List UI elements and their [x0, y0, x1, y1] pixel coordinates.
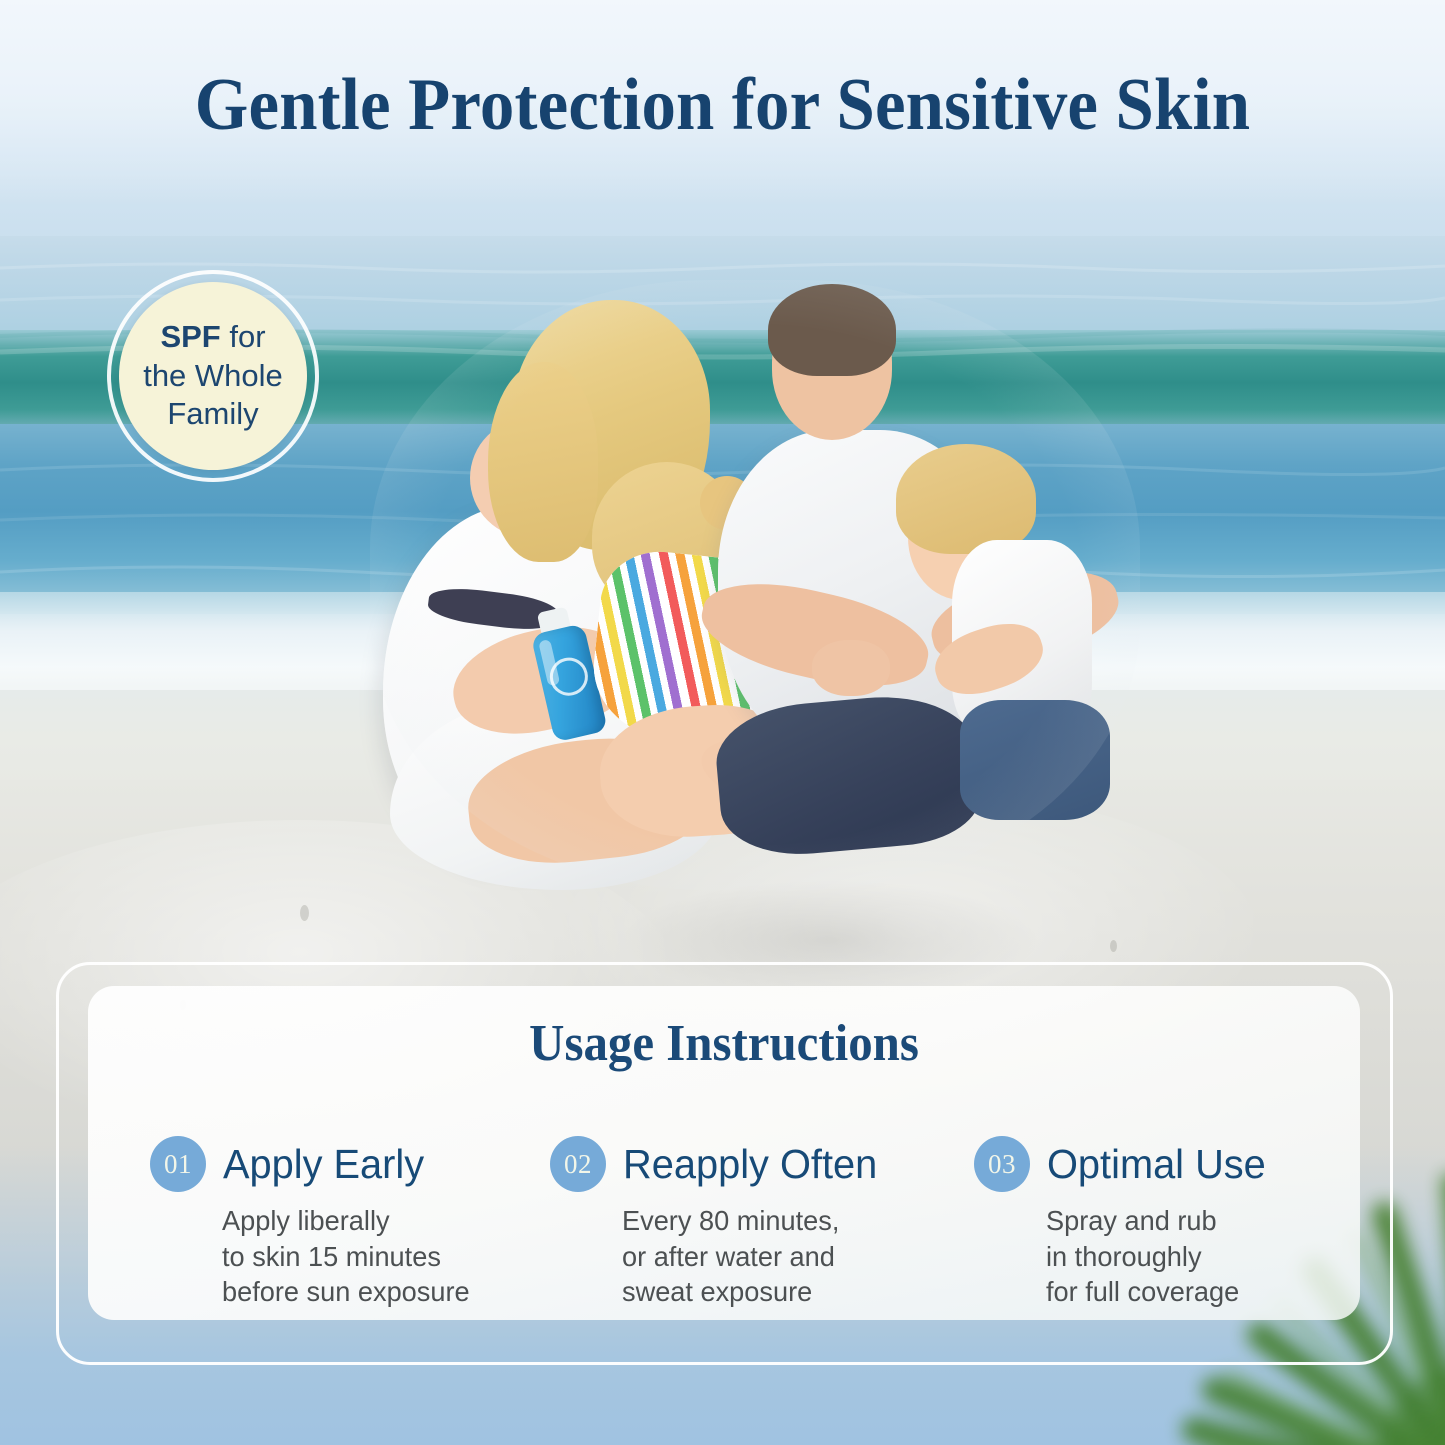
step-title-2: Reapply Often — [623, 1141, 877, 1188]
product-infographic: Gentle Protection for Sensitive Skin SPF… — [0, 0, 1445, 1445]
step-number-badge-2: 02 — [550, 1136, 606, 1192]
badge-fill: SPF for the Whole Family — [119, 282, 307, 470]
step-body-3: Spray and rub in thoroughly for full cov… — [1046, 1203, 1341, 1310]
badge-line-2: the Whole — [143, 357, 283, 395]
step-3-header: 03 Optimal Use — [974, 1136, 1350, 1192]
step-body-1: Apply liberally to skin 15 minutes befor… — [222, 1203, 499, 1310]
step-1-header: 01 Apply Early — [150, 1136, 508, 1192]
steps-row: 01 Apply Early Apply liberally to skin 1… — [88, 1136, 1360, 1310]
step-item-3: 03 Optimal Use Spray and rub in thorough… — [930, 1136, 1350, 1310]
step-body-2: Every 80 minutes, or after water and swe… — [622, 1203, 921, 1310]
step-number-badge-1: 01 — [150, 1136, 206, 1192]
panel-title: Usage Instructions — [126, 1014, 1322, 1073]
step-title-3: Optimal Use — [1047, 1141, 1266, 1188]
badge-text: SPF for the Whole Family — [135, 318, 291, 433]
badge-line-3: Family — [143, 395, 283, 433]
step-item-2: 02 Reapply Often Every 80 minutes, or af… — [508, 1136, 930, 1310]
badge-line-1: SPF for — [143, 318, 283, 356]
step-item-1: 01 Apply Early Apply liberally to skin 1… — [88, 1136, 508, 1310]
step-number-badge-3: 03 — [974, 1136, 1030, 1192]
step-title-1: Apply Early — [223, 1141, 424, 1188]
page-title: Gentle Protection for Sensitive Skin — [51, 63, 1395, 148]
usage-instructions-panel: Usage Instructions 01 Apply Early Apply … — [88, 986, 1360, 1320]
badge-spf-label: SPF — [160, 319, 220, 354]
spf-badge: SPF for the Whole Family — [107, 270, 319, 482]
step-2-header: 02 Reapply Often — [550, 1136, 930, 1192]
badge-for-label: for — [221, 319, 266, 354]
photo-softness-overlay — [370, 280, 1140, 890]
